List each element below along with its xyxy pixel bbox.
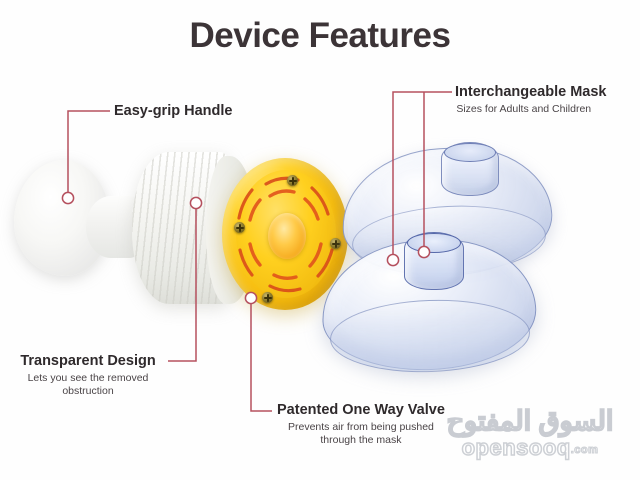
valve-center-diaphragm [268, 213, 306, 259]
callout-easy-grip-handle: Easy-grip Handle [114, 103, 232, 120]
mask-small-port-lip [407, 233, 461, 253]
callout-transparent-design: Transparent Design Lets you see the remo… [2, 353, 174, 398]
valve-screw-bottom [262, 292, 273, 303]
leader-valve [251, 304, 272, 411]
callout-subtitle-patented-one-way-valve-line1: Prevents air from being pushed [277, 421, 445, 434]
watermark-latin-text: opensooq.com [424, 437, 636, 459]
watermark-brand-name: opensooq [462, 435, 571, 460]
watermark-tld: .com [571, 444, 599, 456]
callout-subtitle-transparent-design-line2: obstruction [2, 385, 174, 398]
callout-title-patented-one-way-valve: Patented One Way Valve [277, 402, 445, 419]
page-title: Device Features [0, 16, 640, 56]
callout-subtitle-transparent-design-line1: Lets you see the removed [2, 372, 174, 385]
opensooq-watermark: السوق المفتوح opensooq.com [424, 408, 636, 459]
callout-title-transparent-design: Transparent Design [2, 353, 174, 370]
callout-patented-one-way-valve: Patented One Way Valve Prevents air from… [277, 402, 445, 447]
callout-subtitle-patented-one-way-valve-line2: through the mask [277, 434, 445, 447]
watermark-arabic-text: السوق المفتوح [424, 408, 636, 435]
valve-screw-left [234, 222, 245, 233]
callout-interchangeable-mask: Interchangeable Mask Sizes for Adults an… [455, 84, 607, 116]
product-feature-diagram: Device Features Easy-grip Handle Interch… [0, 0, 640, 480]
valve-screw-right [330, 238, 341, 249]
valve-screw-top [287, 175, 298, 186]
mask-large-port-lip [444, 143, 496, 162]
callout-title-easy-grip-handle: Easy-grip Handle [114, 103, 232, 120]
callout-title-interchangeable-mask: Interchangeable Mask [455, 84, 607, 101]
callout-subtitle-interchangeable-mask: Sizes for Adults and Children [455, 103, 607, 116]
